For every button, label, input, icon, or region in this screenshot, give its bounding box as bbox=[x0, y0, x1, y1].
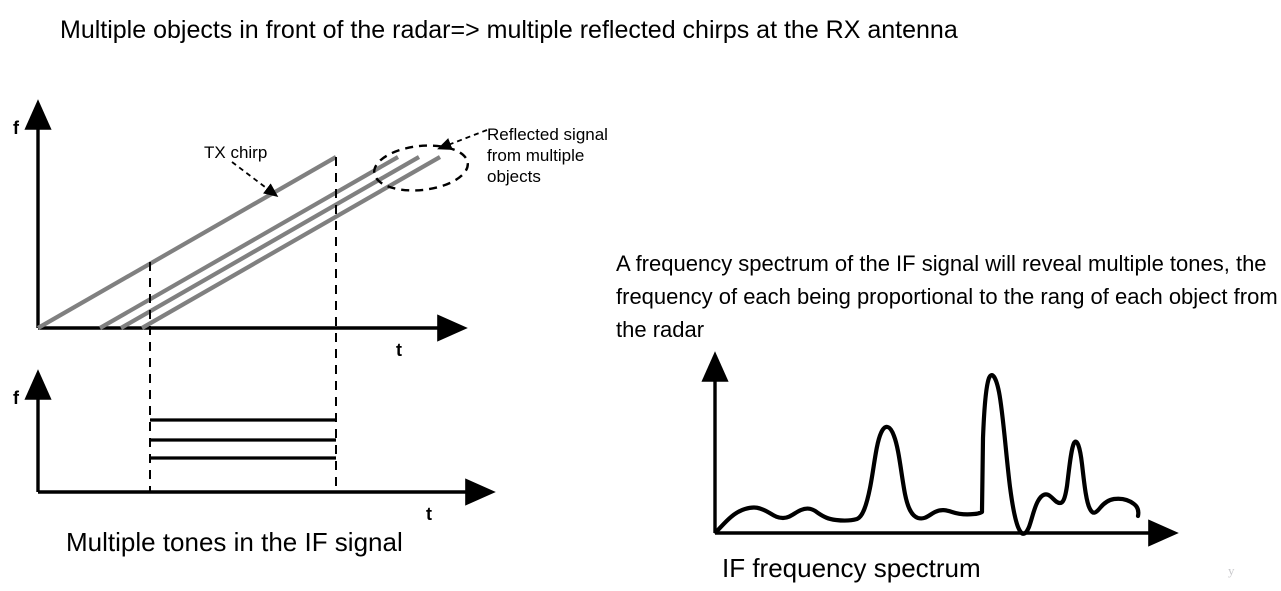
spectrum-plot bbox=[715, 375, 1155, 534]
chirp-plot bbox=[38, 123, 487, 492]
reflected-chirp-line-2 bbox=[121, 157, 419, 328]
tone-plot bbox=[38, 393, 472, 492]
reflected-signal-pointer-arrow bbox=[448, 130, 487, 145]
spectrum-magnitude-curve bbox=[716, 375, 1138, 534]
tx-chirp-pointer-arrow bbox=[232, 162, 269, 190]
reflected-chirp-line-1 bbox=[100, 157, 398, 328]
diagram-vector-layer bbox=[0, 0, 1281, 591]
slide-canvas: Multiple objects in front of the radar=>… bbox=[0, 0, 1281, 591]
